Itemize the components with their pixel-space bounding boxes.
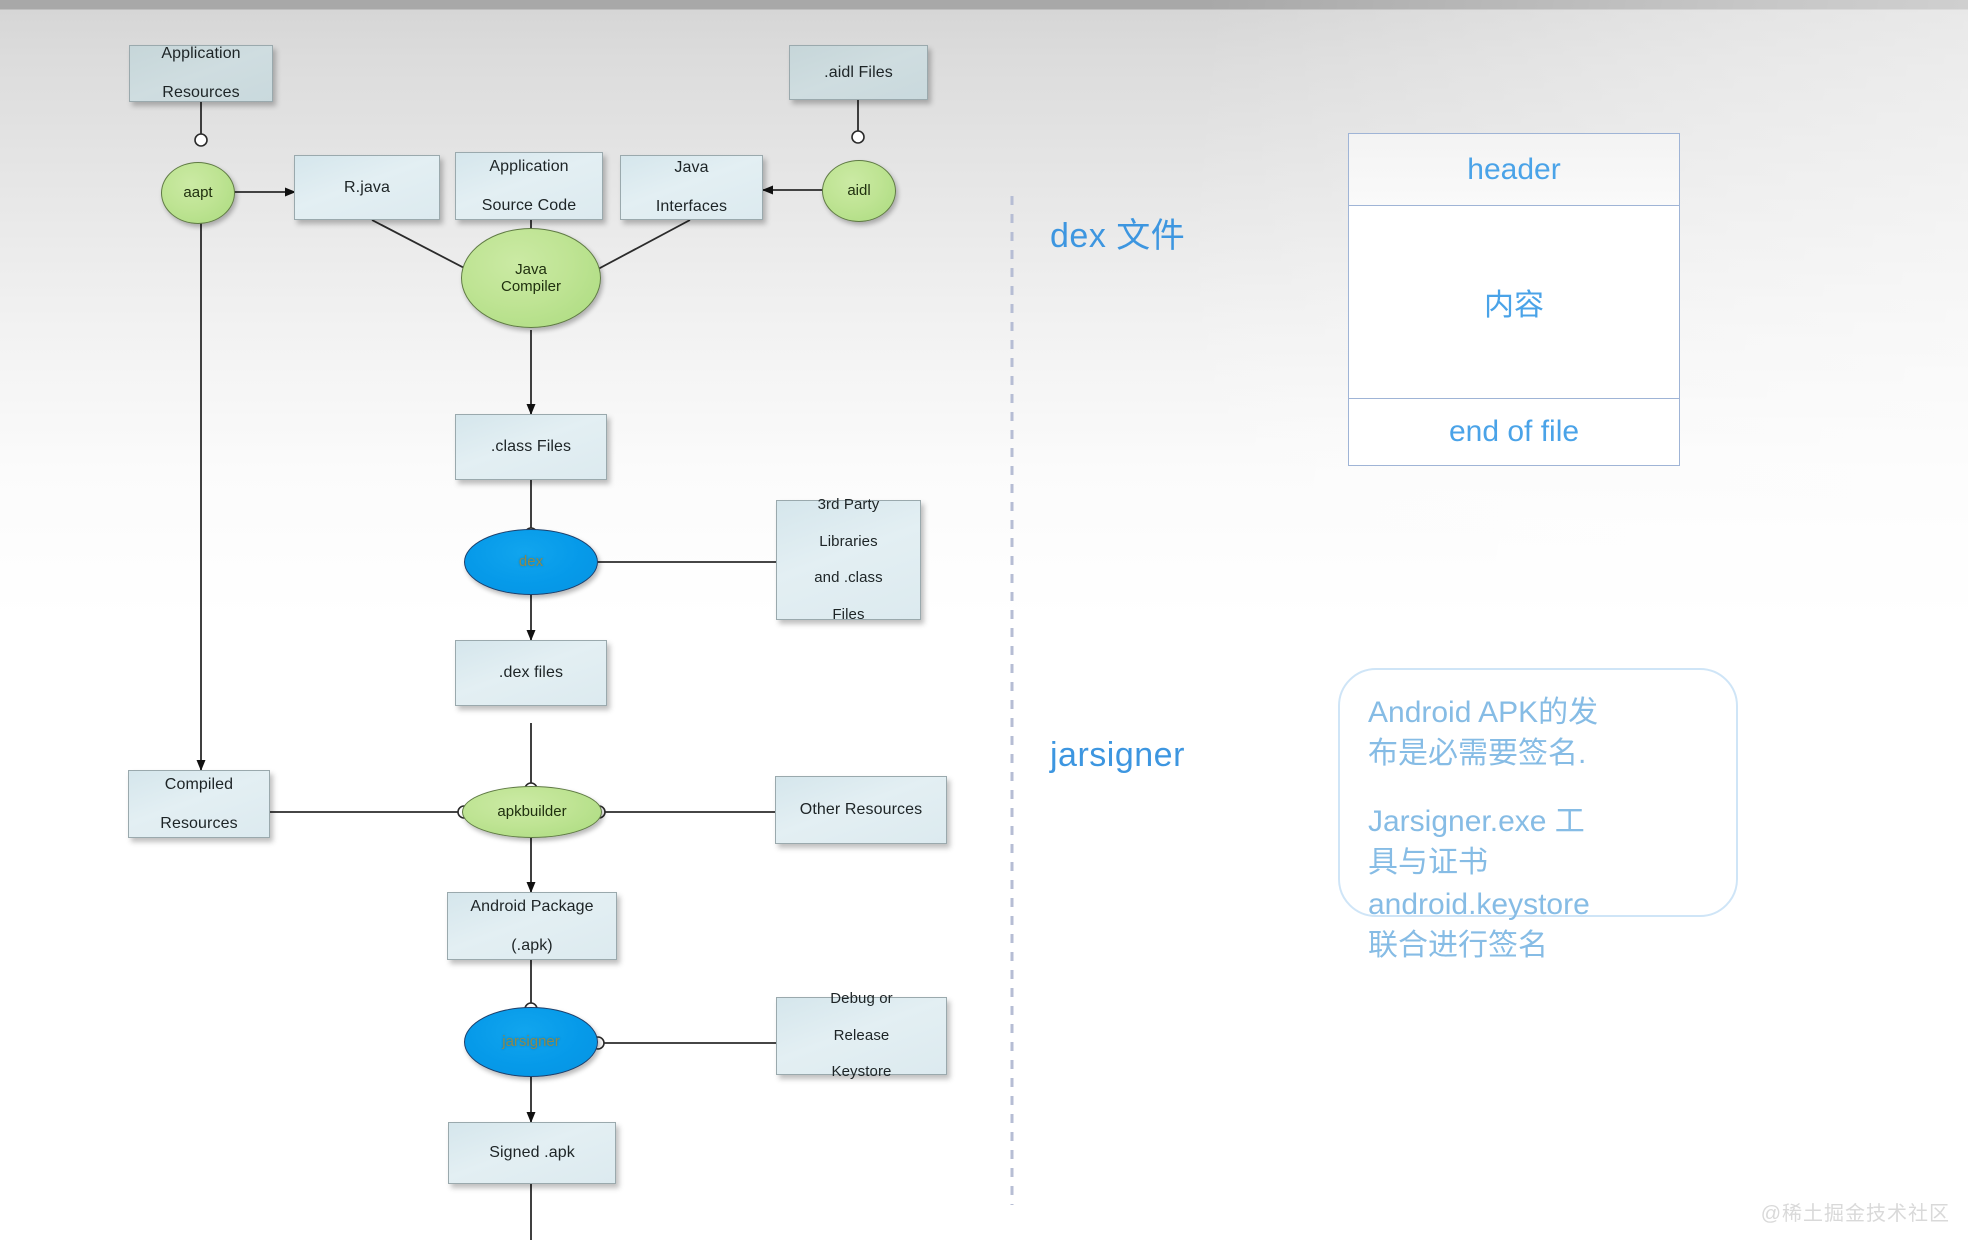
dex-eof-segment: end of file <box>1349 399 1679 465</box>
process-label: apkbuilder <box>497 803 566 820</box>
process-apkbuilder[interactable]: apkbuilder <box>462 786 602 838</box>
note-line: Jarsigner.exe 工 <box>1368 805 1585 838</box>
node-label: Android Package <box>466 897 597 917</box>
jarsigner-note-paragraph: Android APK的发 布是必需要签名. <box>1368 692 1712 775</box>
process-label: Compiler <box>501 278 561 295</box>
process-label: dex <box>519 553 543 570</box>
node-label: Libraries <box>810 533 887 551</box>
node-label: Keystore <box>826 1063 897 1081</box>
node-label: Source Code <box>478 196 581 216</box>
watermark: @稀土掘金技术社区 <box>1761 1197 1950 1226</box>
process-aidl[interactable]: aidl <box>822 160 896 222</box>
node-label: Debug or <box>826 990 897 1008</box>
node-label: .aidl Files <box>820 63 897 83</box>
dex-file-structure: header 内容 end of file <box>1348 133 1680 466</box>
node-class-files[interactable]: .class Files <box>455 414 607 480</box>
node-label: Application <box>157 44 244 64</box>
node-r-java[interactable]: R.java <box>294 155 440 220</box>
process-label: Java <box>515 261 547 278</box>
jarsigner-section-label: jarsigner <box>1050 736 1185 775</box>
node-label: Other Resources <box>796 800 926 820</box>
node-java-interfaces[interactable]: Java Interfaces <box>620 155 763 220</box>
node-label: Resources <box>157 83 244 103</box>
dex-body-segment: 内容 <box>1349 206 1679 399</box>
jarsigner-note-card: Android APK的发 布是必需要签名. Jarsigner.exe 工 具… <box>1338 668 1738 917</box>
note-line: Android APK的发 <box>1368 696 1598 729</box>
node-label: Files <box>810 606 887 624</box>
process-label: aidl <box>847 182 870 199</box>
process-label: jarsigner <box>502 1033 560 1050</box>
slide-canvas: Application Resources .aidl Files R.java… <box>0 0 1968 1240</box>
node-label: Java <box>652 158 731 178</box>
node-debug-or-release-keystore[interactable]: Debug or Release Keystore <box>776 997 947 1075</box>
node-label: and .class <box>810 569 887 587</box>
node-label: Interfaces <box>652 197 731 217</box>
node-label: 3rd Party <box>810 496 887 514</box>
process-dex[interactable]: dex <box>464 529 598 595</box>
note-line: 具与证书 <box>1368 846 1488 879</box>
process-aapt[interactable]: aapt <box>161 162 235 224</box>
node-android-package[interactable]: Android Package (.apk) <box>447 892 617 960</box>
node-label: .class Files <box>487 437 575 457</box>
process-java-compiler[interactable]: Java Compiler <box>461 228 601 328</box>
node-third-party-libraries[interactable]: 3rd Party Libraries and .class Files <box>776 500 921 620</box>
dex-header-segment: header <box>1349 134 1679 206</box>
node-aidl-files[interactable]: .aidl Files <box>789 45 928 100</box>
node-label: Compiled <box>156 775 241 795</box>
node-label: (.apk) <box>466 936 597 956</box>
process-label: aapt <box>183 184 212 201</box>
dex-section-label: dex 文件 <box>1050 208 1185 257</box>
node-application-source-code[interactable]: Application Source Code <box>455 152 603 220</box>
node-label: .dex files <box>495 663 567 683</box>
node-dex-files[interactable]: .dex files <box>455 640 607 706</box>
node-label: R.java <box>340 178 394 198</box>
node-label: Release <box>826 1027 897 1045</box>
note-line: 联合进行签名 <box>1368 929 1548 962</box>
jarsigner-note-paragraph-2: Jarsigner.exe 工 具与证书 android.keystore 联合… <box>1368 801 1712 967</box>
note-line: 布是必需要签名. <box>1368 737 1586 770</box>
node-compiled-resources[interactable]: Compiled Resources <box>128 770 270 838</box>
node-other-resources[interactable]: Other Resources <box>775 776 947 844</box>
node-label: Signed .apk <box>485 1143 579 1163</box>
node-signed-apk[interactable]: Signed .apk <box>448 1122 616 1184</box>
note-line: android.keystore <box>1368 888 1590 921</box>
node-application-resources[interactable]: Application Resources <box>129 45 273 102</box>
node-label: Resources <box>156 814 241 834</box>
process-jarsigner[interactable]: jarsigner <box>464 1007 598 1077</box>
node-label: Application <box>478 157 581 177</box>
